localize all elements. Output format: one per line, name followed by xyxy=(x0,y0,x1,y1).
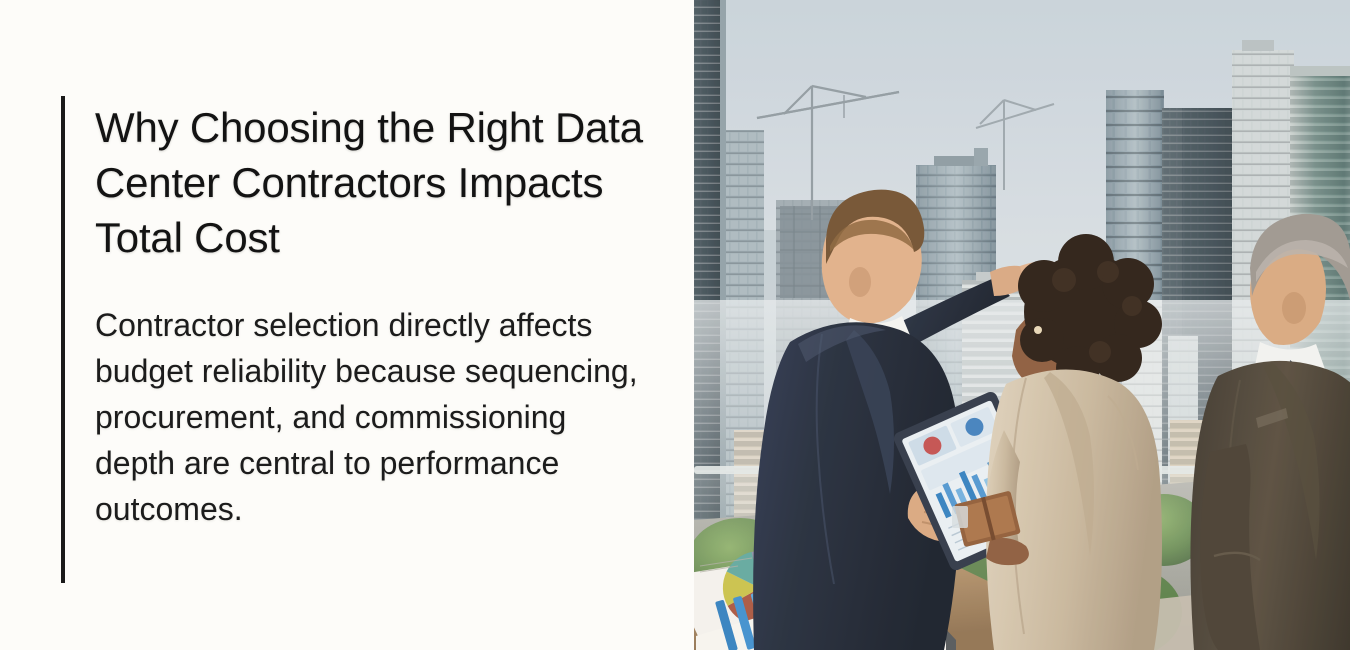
text-panel: Why Choosing the Right Data Center Contr… xyxy=(0,0,694,650)
accent-bar xyxy=(61,96,65,583)
sunlight-overlay xyxy=(694,0,1350,650)
page-title: Why Choosing the Right Data Center Contr… xyxy=(95,100,670,265)
promotional-banner: Why Choosing the Right Data Center Contr… xyxy=(0,0,1350,650)
photo-panel: Three business professionals standing on… xyxy=(694,0,1350,650)
text-block: Why Choosing the Right Data Center Contr… xyxy=(95,100,675,532)
body-paragraph: Contractor selection directly affects bu… xyxy=(95,302,640,532)
rooftop-city-photo: Three business professionals standing on… xyxy=(694,0,1350,650)
